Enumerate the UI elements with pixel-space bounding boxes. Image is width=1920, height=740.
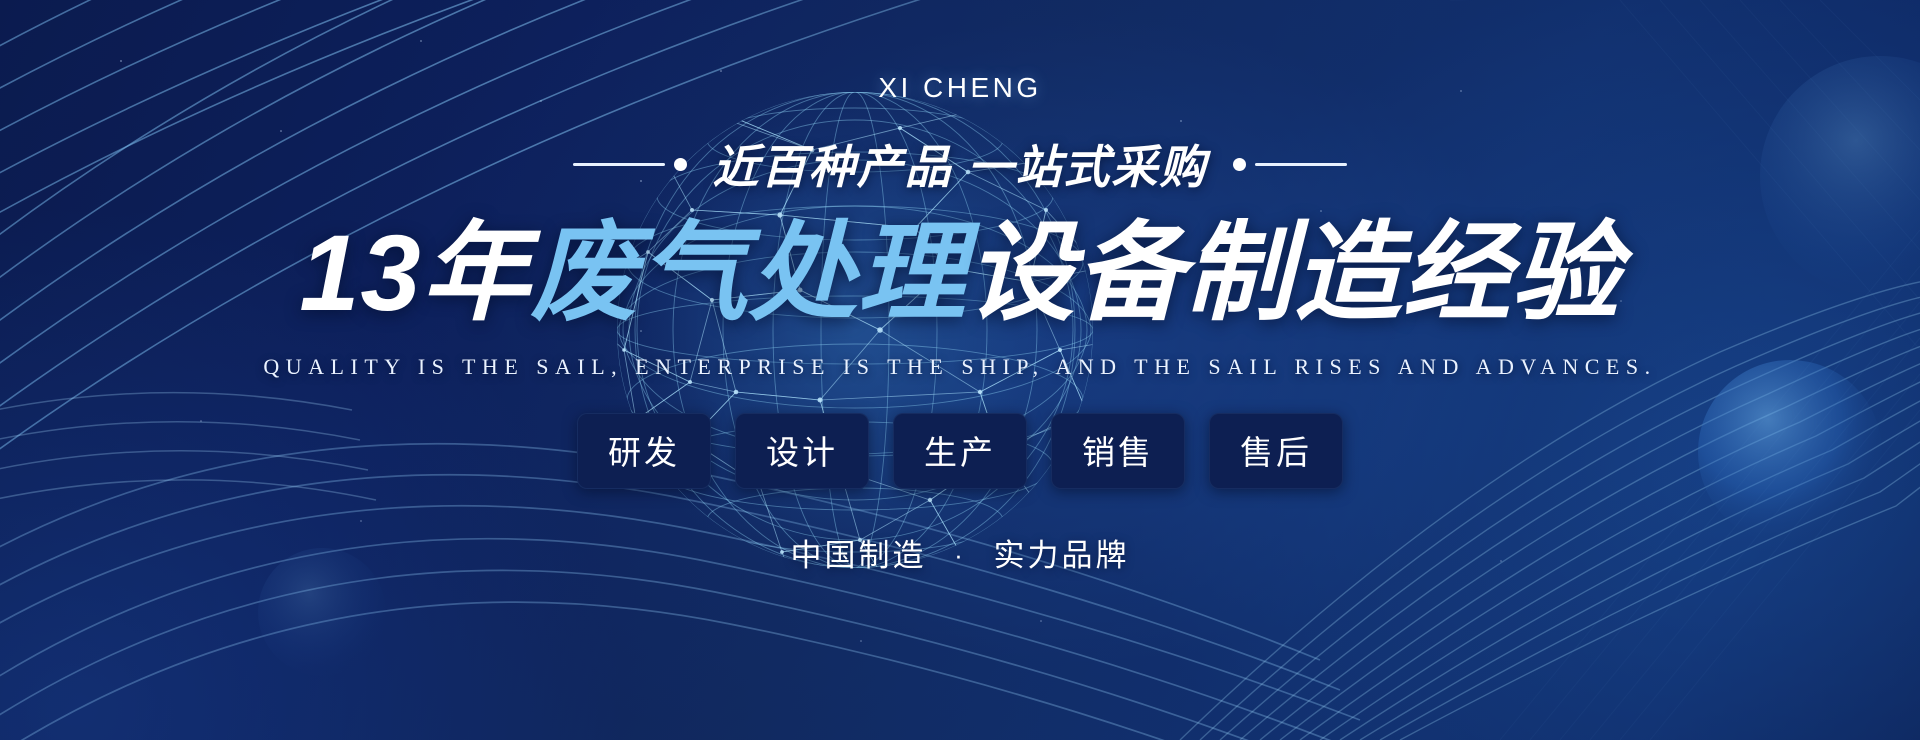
footnote-right: 实力品牌 [993, 538, 1129, 573]
english-tagline: QUALITY IS THE SAIL, ENTERPRISE IS THE S… [263, 354, 1656, 380]
banner-headline: 13年废气处理设备制造经验 [299, 213, 1620, 334]
service-pill-design[interactable]: 设计 [735, 413, 869, 489]
decorative-line-left [573, 158, 687, 171]
service-pill-rd[interactable]: 研发 [577, 413, 711, 489]
service-pill-production[interactable]: 生产 [893, 413, 1027, 489]
banner-content: XI CHENG 近百种产品 一站式采购 13年废气处理设备制造经验 QUALI… [0, 0, 1920, 740]
decorative-bar [1255, 163, 1347, 166]
banner-footnote: 中国制造 · 实力品牌 [791, 530, 1130, 575]
decorative-dot [1233, 158, 1246, 171]
headline-part-tail: 设备制造经验 [967, 212, 1621, 333]
footnote-separator: · [954, 540, 966, 570]
service-pill-list: 研发 设计 生产 销售 售后 [577, 413, 1343, 489]
decorative-line-right [1233, 158, 1347, 171]
brand-name: XI CHENG [878, 72, 1041, 104]
headline-part-highlight: 废气处理 [531, 212, 967, 333]
headline-part-years: 13年 [299, 212, 530, 333]
service-pill-aftersales[interactable]: 售后 [1209, 413, 1343, 489]
service-pill-sales[interactable]: 销售 [1051, 413, 1185, 489]
subtitle-row: 近百种产品 一站式采购 [573, 131, 1348, 197]
decorative-bar [573, 163, 665, 166]
banner-subtitle: 近百种产品 一站式采购 [713, 131, 1208, 197]
hero-banner: XI CHENG 近百种产品 一站式采购 13年废气处理设备制造经验 QUALI… [0, 0, 1920, 740]
decorative-dot [674, 158, 687, 171]
footnote-left: 中国制造 [791, 538, 927, 573]
